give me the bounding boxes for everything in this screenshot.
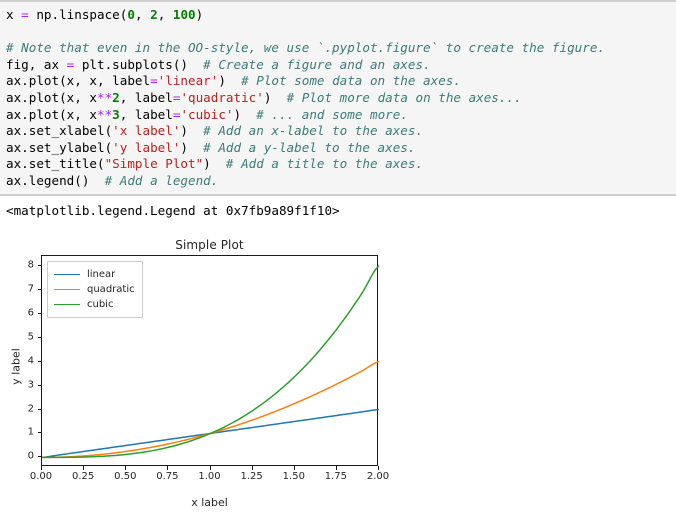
chart-y-tick-label: 0 — [10, 451, 34, 462]
code-token-op: = — [150, 73, 158, 88]
code-token-plain: ax.plot(x, x — [6, 107, 97, 122]
chart-y-axis-label: y label — [10, 337, 23, 397]
chart-y-tick-mark — [38, 361, 42, 362]
chart-legend-swatch — [54, 274, 80, 275]
chart-x-tick-mark — [378, 466, 379, 470]
code-token-com: # Add a legend. — [105, 173, 219, 188]
code-line: x = np.linspace(0, 2, 100) — [6, 7, 605, 24]
code-line: fig, ax = plt.subplots() # Create a figu… — [6, 57, 605, 74]
cell-text-output: <matplotlib.legend.Legend at 0x7fb9a89f1… — [6, 203, 340, 220]
code-token-com: # Add a y-label to the axes. — [203, 140, 415, 155]
chart-legend-label: quadratic — [87, 284, 135, 295]
code-token-plain: ) — [264, 90, 287, 105]
chart-x-tick-mark — [252, 466, 253, 470]
code-token-plain: ax.set_xlabel( — [6, 123, 112, 138]
code-token-com: # Add an x-label to the axes. — [203, 123, 423, 138]
code-token-plain: ) — [218, 73, 241, 88]
chart-x-tick-label: 0.50 — [114, 471, 136, 482]
chart-y-tick-mark — [38, 385, 42, 386]
chart-x-tick-label: 1.00 — [198, 471, 220, 482]
code-token-plain: ) — [196, 7, 204, 22]
code-line: # Note that even in the OO-style, we use… — [6, 40, 605, 57]
chart-x-tick-mark — [294, 466, 295, 470]
code-token-num: 100 — [173, 7, 196, 22]
chart-x-tick-mark — [83, 466, 84, 470]
chart-title: Simple Plot — [41, 238, 378, 252]
code-token-plain: ) — [234, 107, 257, 122]
code-token-com: # ... and some more. — [256, 107, 408, 122]
code-token-com: # Add a title to the axes. — [226, 156, 423, 171]
chart-x-tick-label: 0.00 — [30, 471, 52, 482]
chart-x-tick-label: 1.50 — [283, 471, 305, 482]
code-token-str: 'x label' — [112, 123, 180, 138]
code-token-op: = — [21, 7, 29, 22]
chart-series-quadratic — [42, 362, 379, 458]
code-line: ax.plot(x, x**3, label='cubic') # ... an… — [6, 107, 605, 124]
chart-x-tick-label: 1.25 — [240, 471, 262, 482]
chart-legend-item: quadratic — [54, 282, 135, 297]
code-token-plain: ) — [180, 123, 203, 138]
chart-legend: linearquadraticcubic — [47, 261, 143, 318]
code-token-plain: , — [158, 7, 173, 22]
chart-x-tick-label: 2.00 — [367, 471, 389, 482]
code-token-plain: ax.set_ylabel( — [6, 140, 112, 155]
chart-y-tick-label: 1 — [10, 427, 34, 438]
code-token-plain: ax.plot(x, x, label — [6, 73, 150, 88]
chart-x-tick-label: 0.75 — [156, 471, 178, 482]
code-token-plain: np.linspace( — [29, 7, 128, 22]
code-token-num: 2 — [112, 90, 120, 105]
code-token-plain: ax.legend() — [6, 173, 105, 188]
chart-y-tick-mark — [38, 313, 42, 314]
code-token-com: # Create a figure and an axes. — [203, 57, 430, 72]
code-token-str: "Simple Plot" — [105, 156, 204, 171]
chart-x-tick-label: 1.75 — [325, 471, 347, 482]
code-token-op: ** — [97, 90, 112, 105]
code-line: ax.set_xlabel('x label') # Add an x-labe… — [6, 123, 605, 140]
code-token-num: 2 — [150, 7, 158, 22]
code-token-com: # Plot more data on the axes... — [287, 90, 522, 105]
code-cell[interactable]: x = np.linspace(0, 2, 100) # Note that e… — [0, 0, 676, 196]
chart-legend-swatch — [54, 304, 80, 305]
chart-y-tick-mark — [38, 265, 42, 266]
code-source[interactable]: x = np.linspace(0, 2, 100) # Note that e… — [6, 7, 605, 190]
code-token-com: # Plot some data on the axes. — [241, 73, 461, 88]
chart-y-tick-mark — [38, 456, 42, 457]
code-token-plain: ) — [203, 156, 226, 171]
code-line: ax.set_title("Simple Plot") # Add a titl… — [6, 156, 605, 173]
code-token-plain: plt.subplots() — [74, 57, 203, 72]
code-token-com: # Note that even in the OO-style, we use… — [6, 40, 605, 55]
code-line: ax.legend() # Add a legend. — [6, 173, 605, 190]
chart-legend-item: linear — [54, 267, 135, 282]
chart-y-tick-label: 2 — [10, 403, 34, 414]
code-token-plain: , — [135, 7, 150, 22]
code-token-num: 3 — [112, 107, 120, 122]
chart-x-axis-label: x label — [41, 496, 378, 509]
chart-legend-swatch — [54, 289, 80, 290]
chart-y-tick-mark — [38, 337, 42, 338]
chart-x-tick-mark — [210, 466, 211, 470]
code-token-str: 'cubic' — [180, 107, 233, 122]
code-token-plain: x — [6, 7, 21, 22]
chart-y-tick-mark — [38, 432, 42, 433]
code-token-str: 'quadratic' — [180, 90, 263, 105]
code-line — [6, 24, 605, 41]
chart-y-tick-mark — [38, 289, 42, 290]
code-token-op: ** — [97, 107, 112, 122]
chart-x-tick-label: 0.25 — [72, 471, 94, 482]
chart-legend-item: cubic — [54, 297, 135, 312]
code-line: ax.plot(x, x, label='linear') # Plot som… — [6, 73, 605, 90]
code-token-str: 'linear' — [158, 73, 219, 88]
chart-legend-label: linear — [87, 269, 115, 280]
code-token-plain: fig, ax — [6, 57, 67, 72]
chart-x-tick-mark — [125, 466, 126, 470]
chart-x-tick-mark — [41, 466, 42, 470]
code-token-plain: ax.set_title( — [6, 156, 105, 171]
chart-y-tick-label: 6 — [10, 307, 34, 318]
chart-y-tick-mark — [38, 409, 42, 410]
chart-legend-label: cubic — [87, 299, 113, 310]
code-token-plain: ax.plot(x, x — [6, 90, 97, 105]
chart-x-tick-mark — [167, 466, 168, 470]
chart-x-tick-mark — [336, 466, 337, 470]
code-line: ax.plot(x, x**2, label='quadratic') # Pl… — [6, 90, 605, 107]
code-line: ax.set_ylabel('y label') # Add a y-label… — [6, 140, 605, 157]
chart-y-tick-label: 7 — [10, 283, 34, 294]
code-token-plain: , label — [120, 107, 173, 122]
code-token-num: 0 — [127, 7, 135, 22]
code-token-str: 'y label' — [112, 140, 180, 155]
code-token-plain: ) — [180, 140, 203, 155]
code-token-plain: , label — [120, 90, 173, 105]
chart-y-tick-label: 8 — [10, 259, 34, 270]
